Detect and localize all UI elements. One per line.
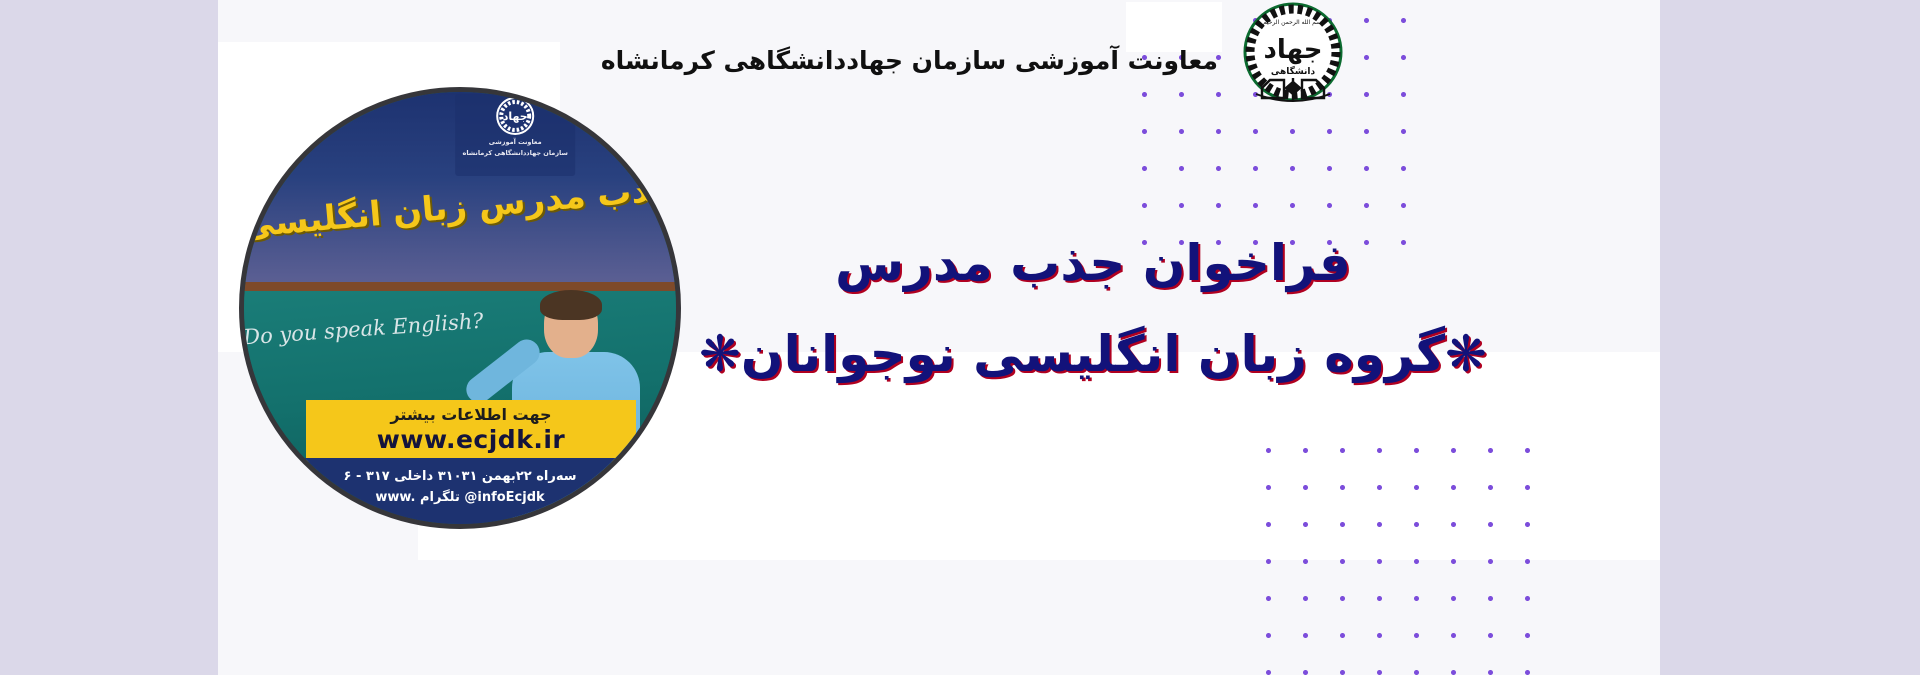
organization-header-text: معاونت آموزشی سازمان جهاددانشگاهی کرمانش… bbox=[218, 46, 1218, 75]
headline-line-2: ❋گروه زبان انگلیسی نوجوانان❋ bbox=[698, 323, 1488, 386]
poster-contact-telegram-handle: @infoEcjdk bbox=[464, 487, 544, 508]
poster-cta-url[interactable]: www.ecjdk.ir bbox=[322, 427, 620, 453]
poster-chalkboard-text: Do you speak English? bbox=[242, 309, 484, 350]
poster-contact-address: سه‌راه ۲۲بهمن ۳۱۰۳۱ داخلی ۳۱۷ - ۶ bbox=[244, 466, 676, 487]
background-wash-top bbox=[218, 0, 1660, 42]
poster-contact-telegram-row: @infoEcjdk تلگرام www. bbox=[244, 487, 676, 508]
main-headline: فراخوان جذب مدرس ❋گروه زبان انگلیسی نوجو… bbox=[698, 232, 1488, 385]
poster-circle-image: جهاد معاونت آموزشی سازمان جهاددانشگاهی ک… bbox=[239, 87, 681, 529]
poster-logo-box: جهاد معاونت آموزشی سازمان جهاددانشگاهی ک… bbox=[455, 94, 575, 176]
dot-pattern-mask bbox=[1126, 2, 1222, 52]
poster-contact-web-prefix: www. bbox=[375, 487, 415, 508]
slide-canvas: جهاد دانشگاهی بسم الله الرحمن الرحیم معا… bbox=[218, 0, 1660, 675]
jahad-daneshgahi-logo-icon: جهاد دانشگاهی بسم الله الرحمن الرحیم bbox=[1240, 2, 1346, 106]
svg-text:جهاد: جهاد bbox=[503, 110, 528, 123]
slide-page: جهاد دانشگاهی بسم الله الرحمن الرحیم معا… bbox=[0, 0, 1920, 675]
poster-logo-caption-1: معاونت آموزشی bbox=[455, 138, 575, 147]
svg-text:جهاد: جهاد bbox=[1263, 35, 1322, 65]
background-wash-bottom bbox=[218, 560, 1660, 675]
poster-jahad-logo-icon: جهاد bbox=[495, 96, 535, 136]
poster-cta-label: جهت اطلاعات بیشتر bbox=[322, 403, 620, 427]
poster-cta-banner: جهت اطلاعات بیشتر www.ecjdk.ir bbox=[306, 400, 636, 462]
headline-line-1: فراخوان جذب مدرس bbox=[698, 232, 1488, 295]
poster-teacher-hair bbox=[540, 290, 602, 320]
poster-contact-strip: سه‌راه ۲۲بهمن ۳۱۰۳۱ داخلی ۳۱۷ - ۶ @infoE… bbox=[244, 458, 676, 524]
svg-text:دانشگاهی: دانشگاهی bbox=[1271, 65, 1316, 77]
poster-logo-caption-2: سازمان جهاددانشگاهی کرمانشاه bbox=[455, 149, 575, 158]
poster-contact-telegram-label: تلگرام bbox=[420, 490, 460, 505]
svg-text:بسم الله الرحمن الرحیم: بسم الله الرحمن الرحیم bbox=[1263, 19, 1324, 26]
